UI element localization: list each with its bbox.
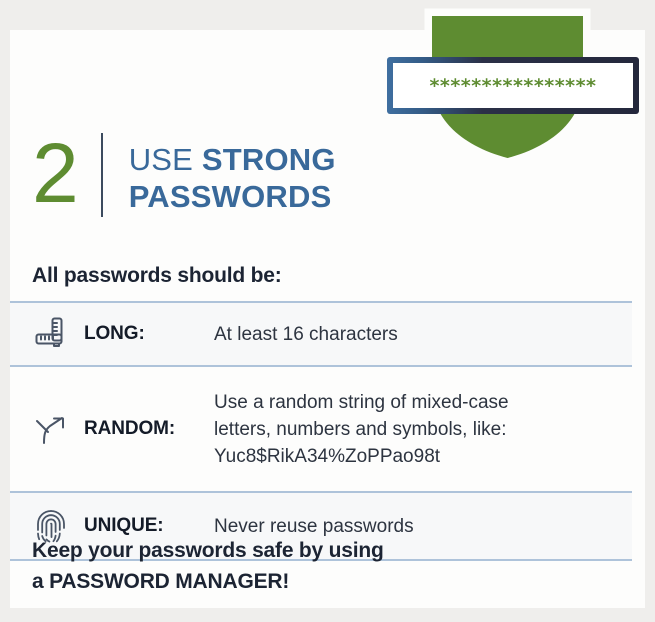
headline-title-line1: USE STRONG <box>129 141 336 178</box>
headline-title-line2: PASSWORDS <box>129 178 336 215</box>
headline-title-strong: STRONG <box>202 142 336 177</box>
requirements-list: LONG: At least 16 characters RANDOM: Use… <box>10 301 632 561</box>
list-item-term: UNIQUE: <box>84 515 214 537</box>
password-input[interactable]: **************** <box>387 57 639 114</box>
list-item-description-line2: letters, numbers and symbols, like: <box>214 416 632 443</box>
password-input-field[interactable]: **************** <box>393 63 633 108</box>
headline-title-use: USE <box>129 142 202 177</box>
list-item-term: RANDOM: <box>84 418 214 440</box>
list-item-random: RANDOM: Use a random string of mixed-cas… <box>10 367 632 491</box>
headline: 2 USE STRONG PASSWORDS <box>32 125 336 221</box>
footer-callout: Keep your passwords safe by using a PASS… <box>32 535 384 597</box>
ruler-square-icon <box>32 303 84 365</box>
headline-title: USE STRONG PASSWORDS <box>103 125 336 221</box>
list-item-description: At least 16 characters <box>214 321 632 348</box>
list-item-long: LONG: At least 16 characters <box>10 303 632 365</box>
list-item-term: LONG: <box>84 323 214 345</box>
password-mask-text: **************** <box>430 77 597 96</box>
list-item-description: Use a random string of mixed-case letter… <box>214 389 632 470</box>
footer-line2: a PASSWORD MANAGER! <box>32 566 384 597</box>
password-example: Yuc8$RikA34%ZoPPao98t <box>214 443 632 470</box>
footer-line1: Keep your passwords safe by using <box>32 535 384 566</box>
section-title: All passwords should be: <box>32 264 282 288</box>
step-number: 2 <box>32 125 101 221</box>
list-item-description-line1: Use a random string of mixed-case <box>214 389 632 416</box>
branching-arrow-icon <box>32 367 84 491</box>
